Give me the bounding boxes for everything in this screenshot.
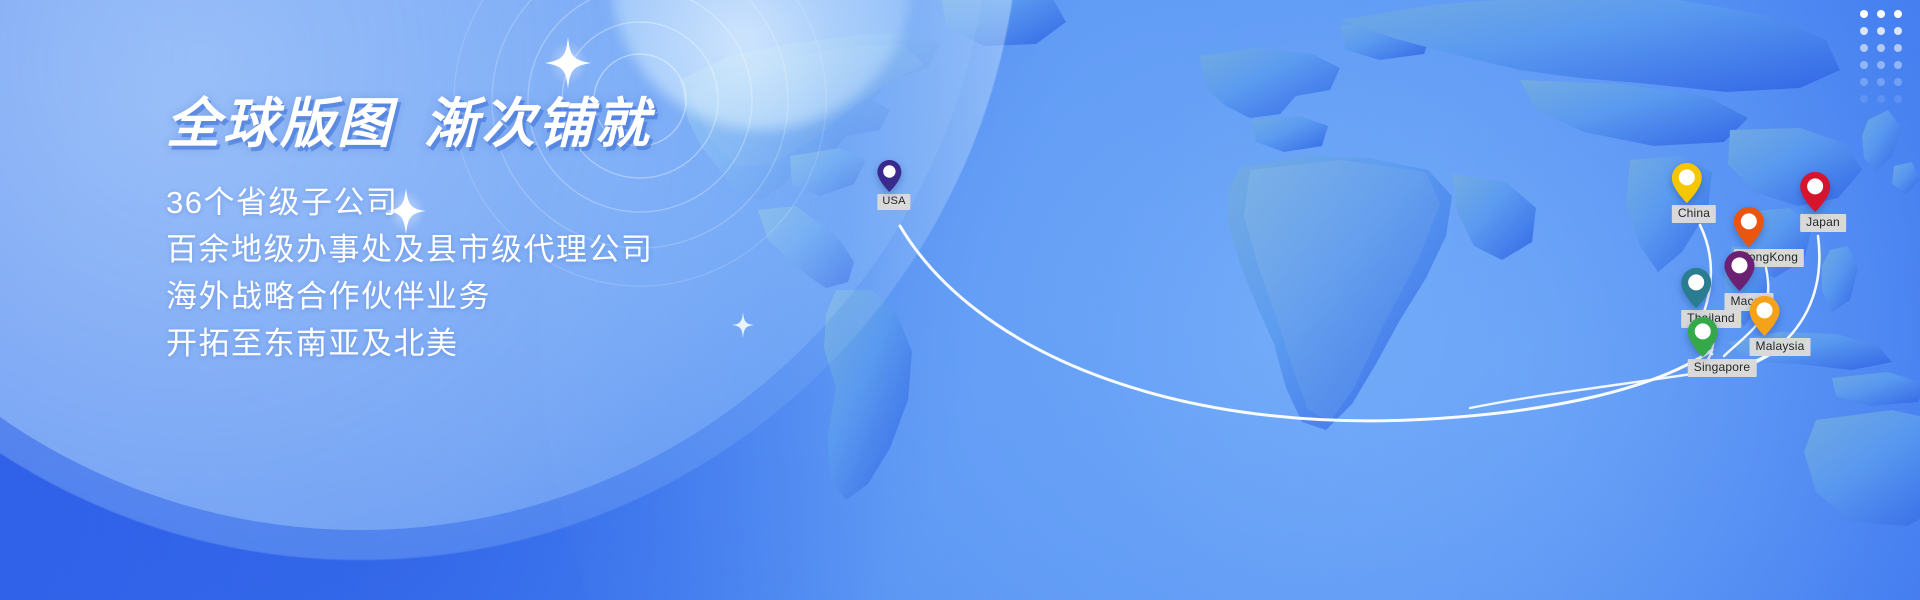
map-marker-label: Malaysia (1750, 338, 1811, 356)
headline-part-1: 全球版图 (166, 94, 394, 154)
list-item: 36个省级子公司 (166, 179, 886, 226)
list-item: 开拓至东南亚及北美 (166, 320, 886, 367)
map-pin-icon (1672, 163, 1716, 203)
map-marker-label: Japan (1800, 214, 1846, 232)
map-marker-usa[interactable]: USA (877, 160, 910, 210)
map-marker-japan[interactable]: Japan (1800, 172, 1846, 232)
map-pin-icon (1681, 268, 1741, 308)
map-marker-china[interactable]: China (1672, 163, 1716, 223)
map-marker-label: China (1672, 205, 1716, 223)
list-item: 百余地级办事处及县市级代理公司 (166, 226, 886, 273)
highlight-list: 36个省级子公司 百余地级办事处及县市级代理公司 海外战略合作伙伴业务 开拓至东… (166, 179, 886, 367)
page-title: 全球版图渐次铺就 (166, 96, 886, 153)
map-pin-icon (1734, 207, 1804, 247)
dot-grid-decor (1860, 10, 1902, 103)
list-item: 海外战略合作伙伴业务 (166, 273, 886, 320)
map-pin-icon (1688, 317, 1757, 357)
global-map-banner: 全球版图渐次铺就 36个省级子公司 百余地级办事处及县市级代理公司 海外战略合作… (0, 0, 1920, 600)
map-marker-label: USA (877, 194, 910, 210)
map-pin-icon (1800, 172, 1846, 212)
map-marker-singapore[interactable]: Singapore (1688, 317, 1757, 377)
map-marker-malaysia[interactable]: Malaysia (1750, 296, 1811, 356)
map-pin-icon (877, 160, 910, 192)
map-marker-label: Singapore (1688, 359, 1757, 377)
copy-block: 全球版图渐次铺就 36个省级子公司 百余地级办事处及县市级代理公司 海外战略合作… (166, 96, 886, 367)
headline-part-2: 渐次铺就 (424, 94, 652, 154)
map-pin-icon (1750, 296, 1811, 336)
